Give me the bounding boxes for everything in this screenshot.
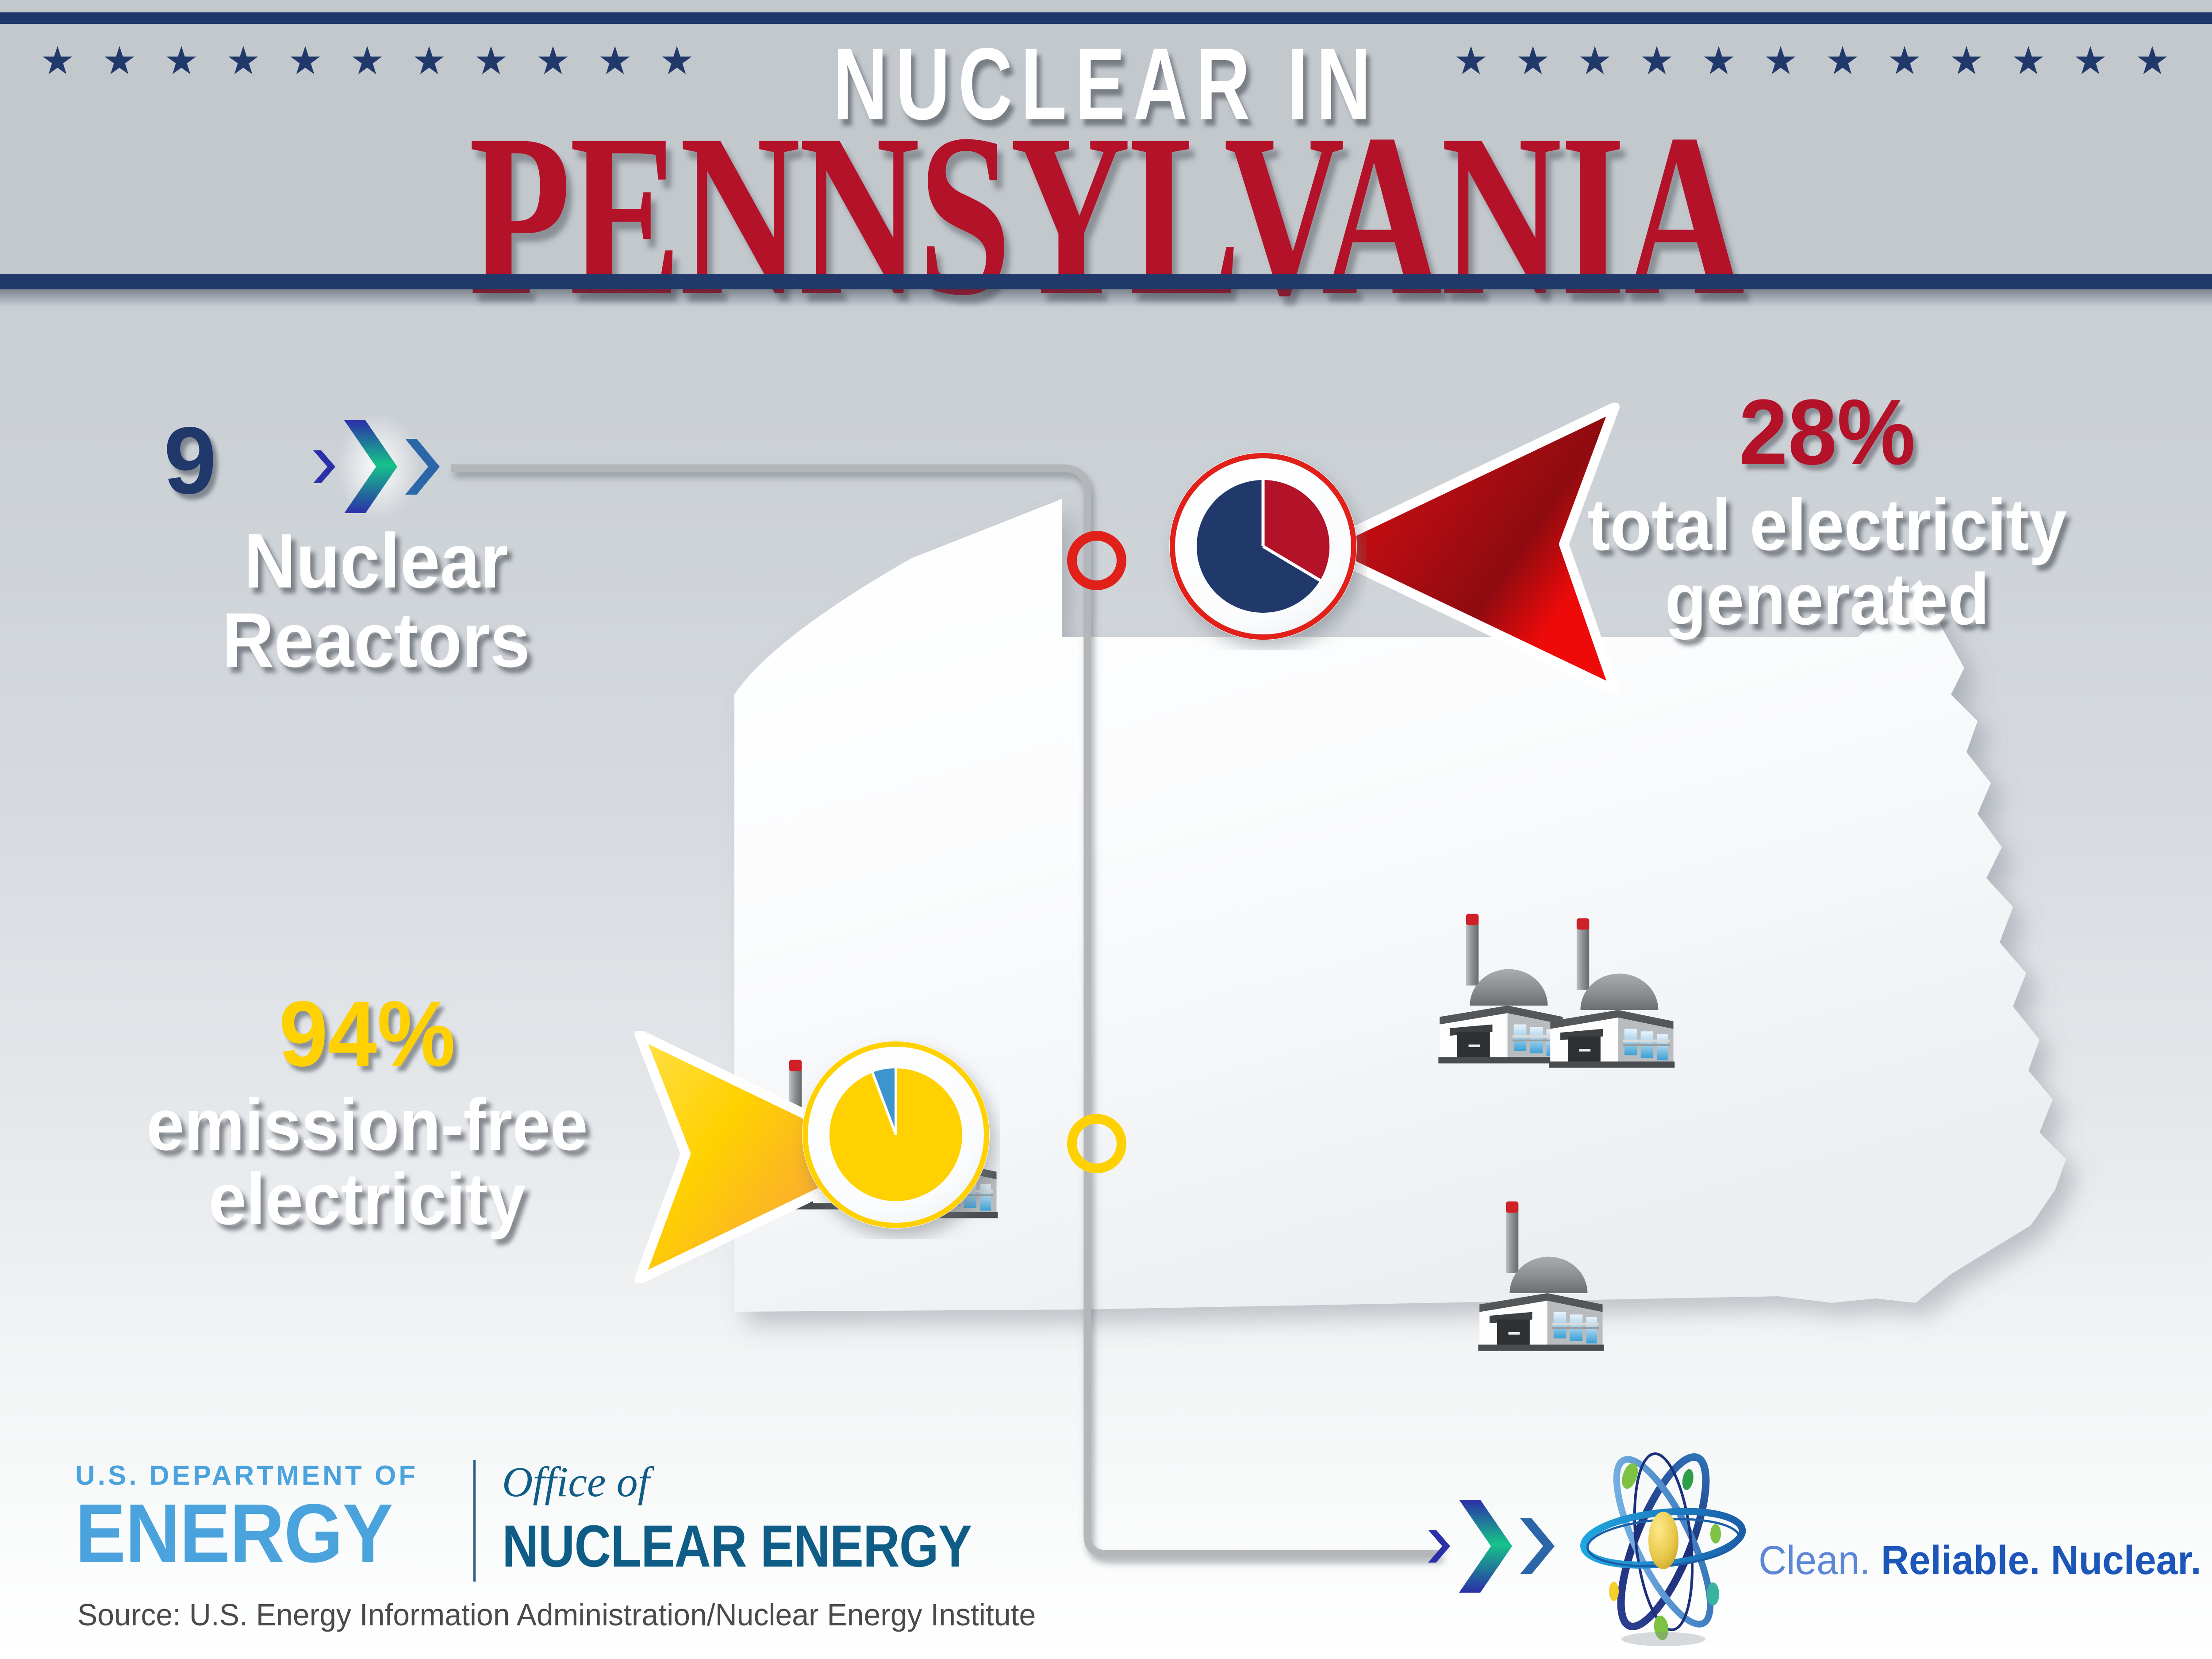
- header-top-rule: [0, 12, 2212, 24]
- reactors-label-line2: Reactors: [88, 601, 664, 680]
- pie-chart-emission-free: [792, 1031, 1000, 1239]
- map-marker-yellow: [1067, 1114, 1126, 1173]
- star-icon: [2137, 46, 2168, 77]
- chevron-logo-icon: [305, 411, 451, 522]
- tagline: Clean. Reliable. Nuclear.: [1759, 1537, 2201, 1584]
- chevron-logo-icon: [1420, 1491, 1566, 1601]
- reactors-label-block: Nuclear Reactors: [66, 522, 686, 680]
- reactors-count: 9: [164, 413, 217, 508]
- tagline-clean: Clean.: [1759, 1538, 1870, 1583]
- doe-energy-wordmark: ENERGY: [75, 1486, 393, 1581]
- office-of-label: Office of: [502, 1457, 649, 1506]
- reactors-label-line1: Nuclear: [88, 522, 664, 601]
- total-electricity-label-line1: total electricity: [1486, 488, 2169, 562]
- total-electricity-block: 28% total electricity generated: [1460, 385, 2194, 637]
- tagline-nuclear: Nuclear.: [2051, 1538, 2201, 1583]
- emission-free-block: 94% emission-free electricity: [53, 987, 681, 1237]
- reactors-count-row: 9: [164, 416, 217, 504]
- doe-logo: U.S. DEPARTMENT OF ENERGY Office of NUCL…: [75, 1460, 982, 1593]
- poster-header: NUCLEAR IN PENNSYLVANIA: [0, 0, 2212, 294]
- source-citation: Source: U.S. Energy Information Administ…: [77, 1597, 1036, 1632]
- star-icon: [42, 46, 73, 77]
- office-name-label: NUCLEAR ENERGY: [502, 1512, 972, 1581]
- total-electricity-value: 28%: [1479, 385, 2176, 480]
- map-marker-red: [1067, 531, 1126, 590]
- header-bottom-rule: [0, 274, 2212, 289]
- emission-free-value: 94%: [69, 987, 666, 1081]
- logo-divider: [473, 1460, 476, 1582]
- total-electricity-label-line2: generated: [1486, 562, 2169, 636]
- header-shadow: [0, 289, 2212, 307]
- infographic-poster: NUCLEAR IN PENNSYLVANIA: [0, 0, 2212, 1659]
- tagline-reliable: Reliable.: [1881, 1538, 2040, 1583]
- pie-chart-total-electricity: [1159, 442, 1367, 650]
- atom-logo-icon: [1557, 1438, 1770, 1646]
- emission-free-label-line1: emission-free: [75, 1087, 660, 1162]
- emission-free-label-line2: electricity: [75, 1162, 660, 1236]
